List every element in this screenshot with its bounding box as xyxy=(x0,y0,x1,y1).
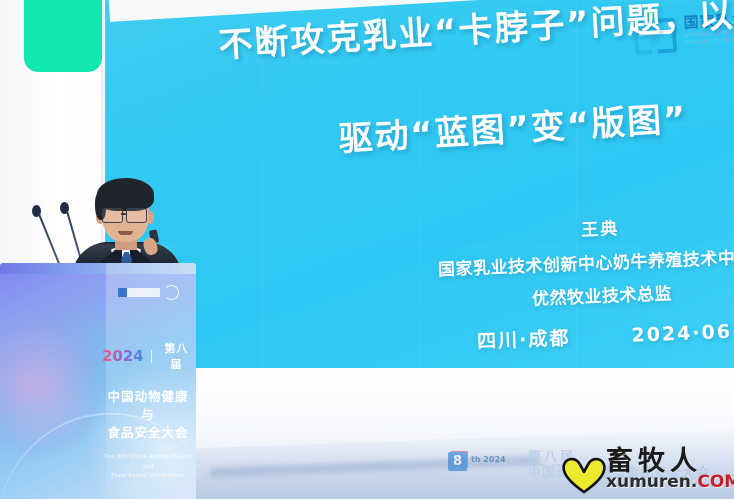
watermark-brand-domain: COM xyxy=(697,472,734,492)
speaker-name: 王典 xyxy=(335,204,734,250)
podium-title: 中国动物健康与 食品安全大会 xyxy=(102,388,194,442)
lectern-podium: 2024 第八届 中国动物健康与 食品安全大会 The 8th China An… xyxy=(0,263,196,499)
watermark-brand-cn: 畜牧人 xyxy=(606,448,734,475)
event-date: 2024·06 xyxy=(631,321,732,347)
podium-year: 2024 xyxy=(102,347,144,365)
teal-decor-block xyxy=(24,0,102,72)
watermark-brand-en-text: xumuren. xyxy=(606,472,697,492)
podium-logo-primary-icon xyxy=(118,288,160,297)
podium-year-row: 2024 第八届 xyxy=(102,340,194,372)
event-meta: 四川·成都 2024·06 xyxy=(339,311,734,359)
podium-subtitle: The 8th China Animal Health and Food Saf… xyxy=(102,453,194,482)
podium-title-line-1: 中国动物健康与 xyxy=(102,388,194,424)
watermark-brand: 畜牧人 xumuren.COM xyxy=(606,448,734,491)
podium-logo-secondary-icon xyxy=(164,285,179,300)
slide-title-line-2: 驱动“蓝图”变“版图” xyxy=(337,70,734,160)
heart-logo-icon xyxy=(560,455,608,495)
podium-subtitle-line-2: Food Safety Conference xyxy=(102,472,194,482)
eyeglasses-icon xyxy=(102,208,123,223)
speaker-info: 王典 国家乳业技术创新中心奶牛养殖技术中心执行主 优然牧业技术总监 四川·成都 … xyxy=(225,204,734,364)
event-location: 四川·成都 xyxy=(477,327,571,353)
podium-sponsor-logos xyxy=(102,285,194,300)
podium-edition: 第八届 xyxy=(159,340,194,372)
watermark-brand-en: xumuren.COM xyxy=(606,474,734,491)
podium-divider xyxy=(151,350,152,363)
podium-branding-panel: 2024 第八届 中国动物健康与 食品安全大会 The 8th China An… xyxy=(102,275,194,475)
podium-subtitle-line-1: The 8th China Animal Health and xyxy=(102,453,194,472)
conference-photo: 国家乳业 NATIONAL CENTER INNOVATION FOR 不断攻克… xyxy=(0,0,734,499)
podium-title-line-2: 食品安全大会 xyxy=(102,424,194,442)
badge-number: 8 xyxy=(448,452,467,471)
